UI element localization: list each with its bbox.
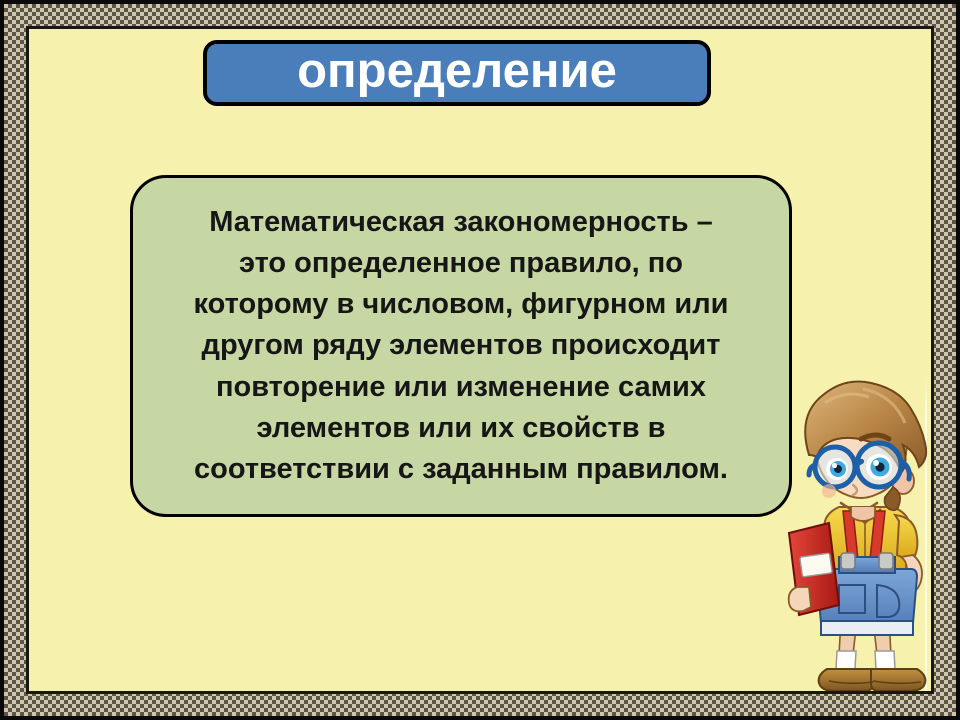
boy-head-group	[805, 382, 926, 522]
cartoon-schoolboy-illustration	[767, 369, 931, 691]
slide-page-background: определение Математическая закономерност…	[29, 29, 931, 691]
definition-textbox: Математическая закономерность – это опре…	[130, 175, 792, 517]
boy-book	[789, 523, 839, 615]
definition-text: Математическая закономерность – это опре…	[194, 202, 729, 490]
slide-root: определение Математическая закономерност…	[0, 0, 960, 720]
title-banner: определение	[203, 40, 711, 106]
title-banner-label: определение	[297, 47, 617, 96]
